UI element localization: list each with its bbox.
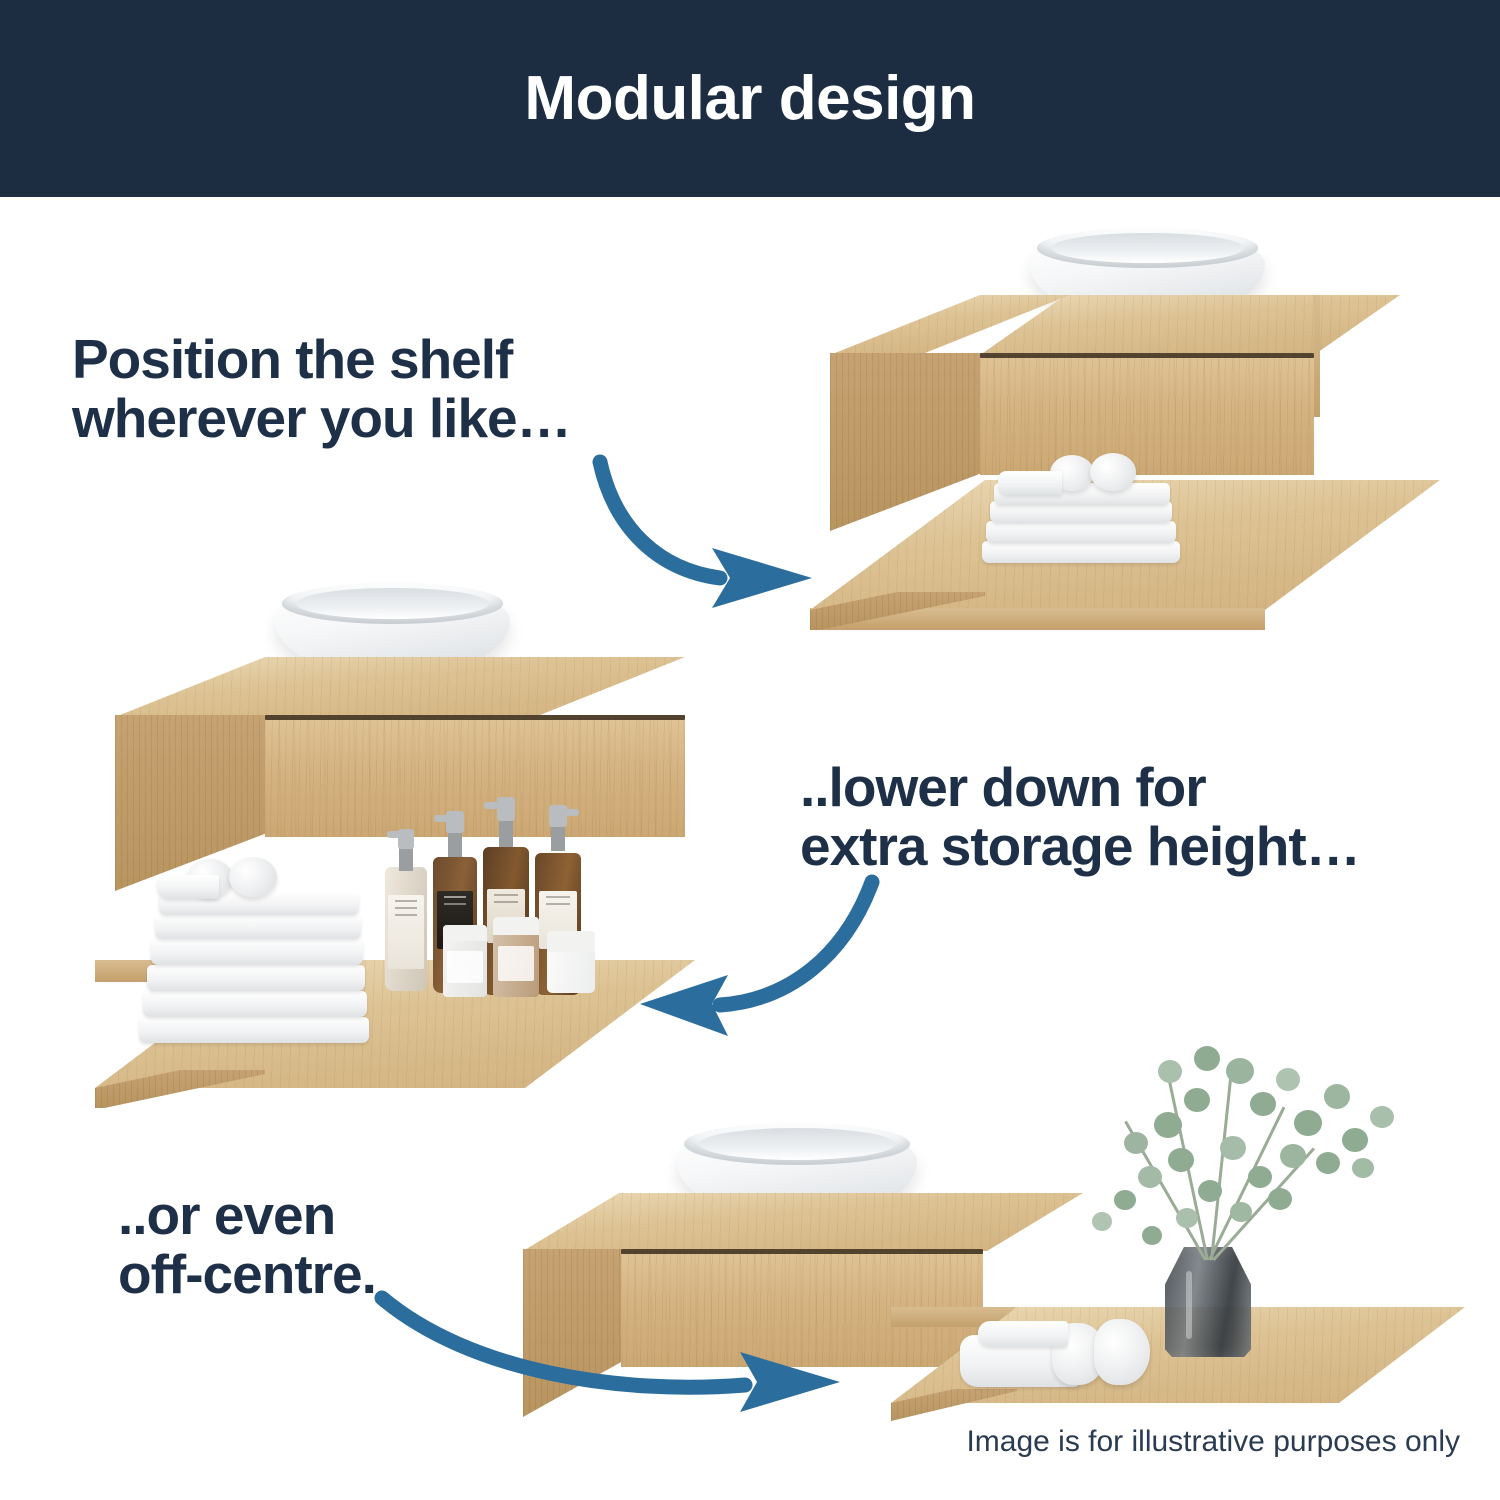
disclaimer-footnote: Image is for illustrative purposes only	[966, 1425, 1460, 1459]
leaf	[1268, 1188, 1292, 1210]
leaf	[1248, 1166, 1272, 1188]
leaf	[1184, 1088, 1210, 1112]
pump-bottle	[385, 821, 427, 991]
jar-lid	[493, 917, 539, 935]
towel	[986, 521, 1176, 543]
bottle-label	[388, 895, 423, 969]
bottle-pump-spout	[387, 831, 401, 838]
leaf	[1370, 1106, 1394, 1128]
bottle-pump	[549, 805, 567, 827]
storage-jar	[493, 917, 539, 997]
leaf	[1138, 1166, 1162, 1188]
leaf	[1276, 1068, 1300, 1091]
towel-roll	[1094, 1319, 1150, 1385]
scene-shelf-high	[810, 225, 1450, 675]
callout-position-the-shelf: Position the shelf wherever you like…	[72, 330, 571, 449]
leaf	[1250, 1092, 1276, 1116]
towel-stack	[135, 855, 375, 1045]
leaf	[1316, 1152, 1340, 1174]
leaf	[1176, 1208, 1198, 1228]
drawer-gap-line	[265, 715, 685, 720]
rolled-towels	[960, 1305, 1170, 1405]
bottle-pump	[446, 811, 464, 833]
drawer-gap-line	[621, 1249, 983, 1254]
smoked-glass-vase	[1165, 1247, 1251, 1357]
towel	[155, 915, 361, 939]
drawer-gap-line	[980, 353, 1314, 358]
storage-jar	[443, 925, 487, 997]
leaf	[1114, 1190, 1136, 1210]
towel-drape	[157, 875, 219, 899]
eucalyptus-stems	[1080, 1040, 1410, 1260]
towel-roll	[1090, 453, 1136, 491]
folded-towels	[980, 463, 1190, 573]
unit-top-surface	[115, 657, 685, 717]
towel	[139, 1017, 369, 1043]
jar-label	[447, 951, 482, 983]
leaf	[1142, 1226, 1162, 1245]
unit-front-drawer	[980, 353, 1314, 475]
leaf	[1124, 1132, 1148, 1154]
bottle-pump-spout	[484, 802, 500, 809]
leaf	[1280, 1144, 1306, 1168]
bottle-neck	[499, 819, 514, 847]
jar-lid	[443, 925, 487, 941]
leaf	[1194, 1046, 1220, 1071]
basin-cavity	[296, 588, 489, 619]
bottle-neck	[399, 847, 412, 871]
towel	[982, 541, 1180, 563]
unit-top-surface	[523, 1193, 1083, 1251]
unit-right-edge	[1314, 295, 1320, 417]
storage-jar	[547, 931, 595, 993]
infographic-page: Modular design	[0, 0, 1500, 1500]
leaf	[1294, 1110, 1322, 1136]
callout-lower-down: ..lower down for extra storage height…	[800, 758, 1360, 877]
towel	[151, 939, 363, 965]
towel	[978, 1321, 1068, 1347]
bottle-pump-spout	[434, 815, 449, 822]
leaf	[1324, 1084, 1350, 1109]
leaf	[1230, 1202, 1252, 1222]
leaf	[1220, 1136, 1246, 1160]
bottle-pump	[497, 797, 515, 821]
bottle-pump-spout	[564, 809, 580, 816]
towel	[147, 965, 365, 991]
leaf	[1226, 1058, 1254, 1084]
scene-shelf-offcentre	[505, 1025, 1465, 1425]
header-bar: Modular design	[0, 0, 1500, 197]
page-title: Modular design	[524, 63, 975, 134]
callout-off-centre: ..or even off-centre.	[118, 1186, 376, 1305]
basin-cavity	[1051, 233, 1244, 264]
towel	[143, 991, 367, 1017]
jar-lid	[547, 931, 595, 952]
jar-label	[498, 946, 535, 981]
vase-glass	[1165, 1247, 1251, 1357]
leaf	[1154, 1112, 1182, 1138]
unit-side-panel	[523, 1249, 623, 1421]
towel-drape	[998, 471, 1062, 495]
bottle-neck	[551, 825, 566, 851]
leaf	[1342, 1128, 1368, 1152]
towel-roll	[229, 857, 277, 897]
leaf	[1198, 1180, 1222, 1202]
leaf	[1092, 1212, 1112, 1231]
leaf	[1158, 1060, 1182, 1083]
leaf	[1168, 1148, 1194, 1172]
leaf	[1352, 1158, 1374, 1178]
basin-cavity	[699, 1128, 896, 1160]
vase-highlight	[1186, 1271, 1192, 1339]
bottle-neck	[448, 831, 462, 857]
